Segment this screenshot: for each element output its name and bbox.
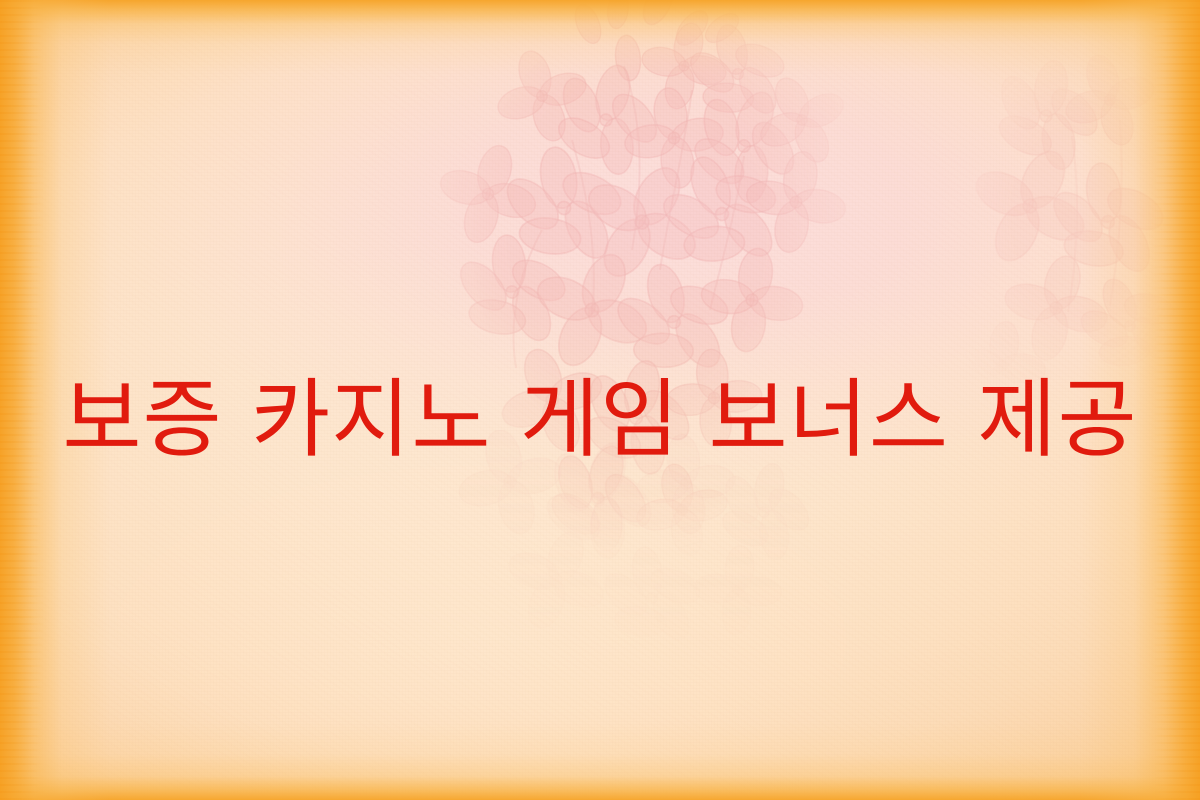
- floral-cluster-lower-icon: [430, 430, 850, 750]
- promo-banner: 보증 카지노 게임 보너스 제공: [0, 0, 1200, 800]
- banner-headline: 보증 카지노 게임 보너스 제공: [62, 377, 1137, 463]
- headline-area: 보증 카지노 게임 보너스 제공: [0, 365, 1200, 475]
- floral-cluster-right-icon: [960, 40, 1200, 420]
